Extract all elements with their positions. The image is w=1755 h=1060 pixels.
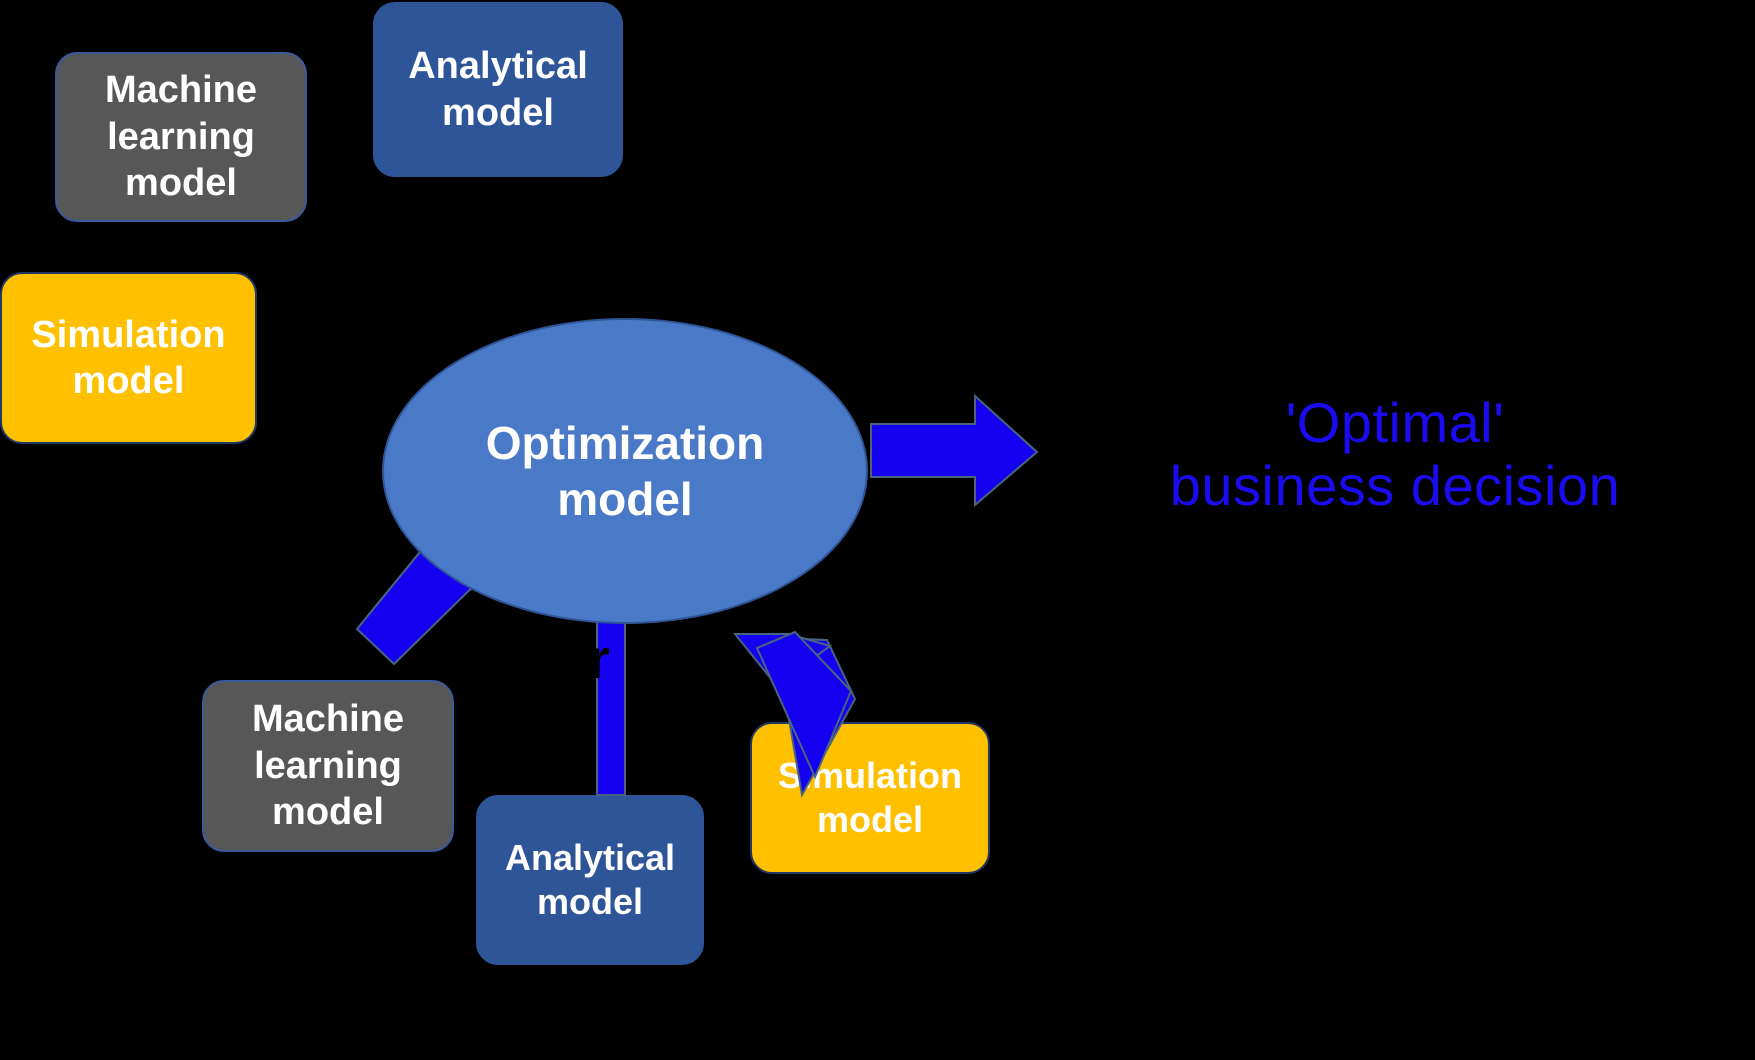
core-label-line2: model <box>486 471 765 527</box>
occluded-text-middle: r <box>588 626 610 691</box>
diagram-canvas: model r Machine learning model Analytica… <box>0 0 1755 1060</box>
arrow-core-to-outcome <box>871 396 1037 505</box>
core-label: Optimization model <box>486 415 765 527</box>
arrow-layer <box>0 0 1755 1060</box>
core-label-line1: Optimization <box>486 415 765 471</box>
optimization-model-ellipse[interactable]: Optimization model <box>382 318 868 624</box>
